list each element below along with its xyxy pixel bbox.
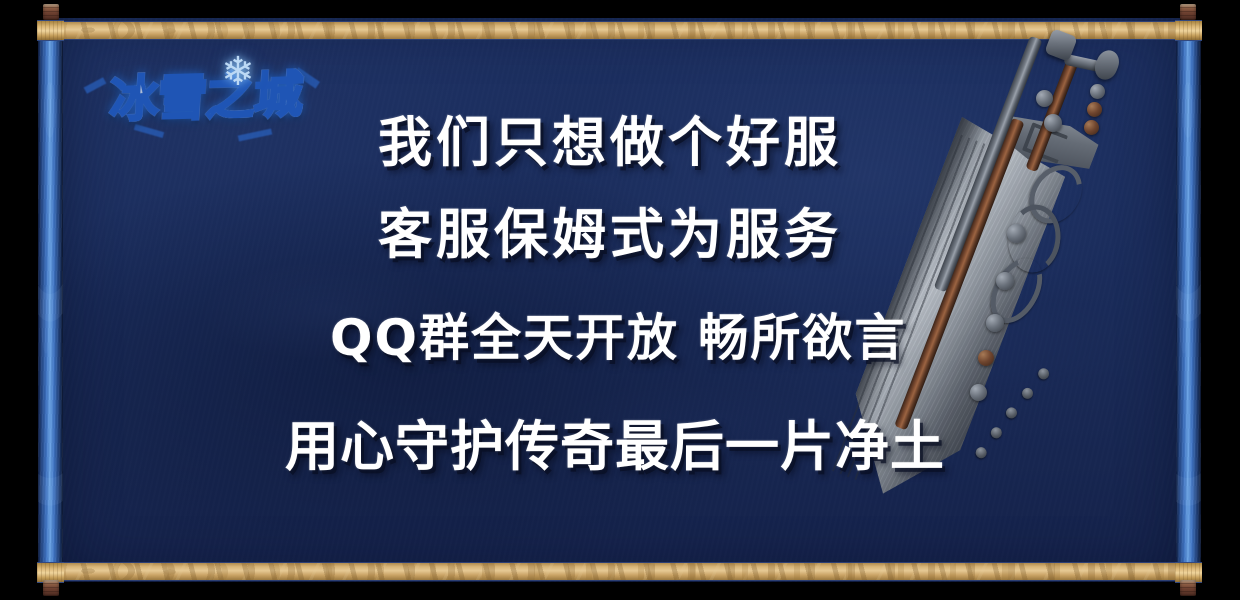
ice-shard [238, 129, 273, 142]
sword-pommel-secondary [1091, 47, 1122, 83]
rod-cap-top-left [37, 20, 64, 41]
rivet [989, 426, 1003, 440]
finial-ridges [1180, 4, 1196, 20]
game-logo: 冰雪之城 ❄ [88, 52, 324, 144]
finial-top-left [43, 4, 59, 20]
finial-ridges [43, 580, 59, 596]
broadsword-artwork [930, 28, 1200, 568]
hilt-knob [1007, 224, 1026, 243]
hilt-knob [1084, 120, 1099, 135]
rivet [1020, 386, 1034, 400]
finial-ridges [43, 4, 59, 20]
hilt-knob [996, 272, 1014, 290]
rod-grain [38, 20, 63, 580]
cap-grain [37, 21, 64, 40]
game-banner: 冰雪之城 ❄ 我们只想做个好服 客服保姆式为服务 QQ群全天开放 畅所欲言 用心… [0, 0, 1240, 600]
left-scroll-rod [38, 20, 63, 580]
rivet [1004, 406, 1018, 420]
hilt-knob [1036, 90, 1053, 107]
hilt-knob [986, 314, 1004, 332]
hilt-knob [970, 384, 987, 401]
snowflake-icon: ❄ [216, 50, 260, 94]
rivet [1037, 367, 1051, 381]
hilt-knob [978, 350, 994, 366]
finial-top-right [1180, 4, 1196, 20]
finial-ridges [1180, 580, 1196, 596]
hilt-knob [1044, 114, 1062, 132]
hilt-knob [1087, 102, 1102, 117]
finial-bottom-right [1180, 580, 1196, 596]
finial-bottom-left [43, 580, 59, 596]
game-logo-title: 冰雪之城 [86, 63, 326, 131]
rivet [974, 446, 988, 460]
hilt-knob [1090, 84, 1105, 99]
